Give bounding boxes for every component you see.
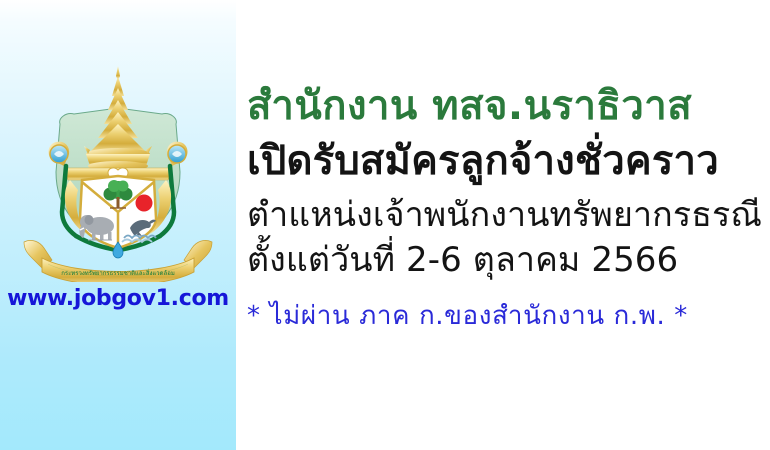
ministry-emblem: กระทรวงทรัพยากรธรรมชาติและสิ่งแวดล้อม (18, 62, 218, 282)
announcement-headline: เปิดรับสมัครลูกจ้างชั่วคราว (247, 141, 719, 181)
announcement-poster: กระทรวงทรัพยากรธรรมชาติและสิ่งแวดล้อม ww… (0, 0, 770, 450)
announcement-text-block: สำนักงาน ทสจ.นราธิวาส เปิดรับสมัครลูกจ้า… (243, 0, 770, 450)
sun-icon (136, 195, 153, 212)
application-dates: ตั้งแต่วันที่ 2-6 ตุลาคม 2566 (247, 243, 678, 277)
svg-text:กระทรวงทรัพยากรธรรมชาติและสิ่ง: กระทรวงทรัพยากรธรรมชาติและสิ่งแวดล้อม (61, 269, 175, 277)
emblem-panel: กระทรวงทรัพยากรธรรมชาติและสิ่งแวดล้อม ww… (0, 0, 236, 450)
organization-name: สำนักงาน ทสจ.นราธิวาส (247, 86, 692, 126)
exam-exemption-note: * ไม่ผ่าน ภาค ก.ของสำนักงาน ก.พ. * (247, 303, 688, 329)
website-url[interactable]: www.jobgov1.com (0, 286, 236, 311)
position-title: ตำแหน่งเจ้าพนักงานทรัพยากรธรณี (247, 198, 762, 232)
